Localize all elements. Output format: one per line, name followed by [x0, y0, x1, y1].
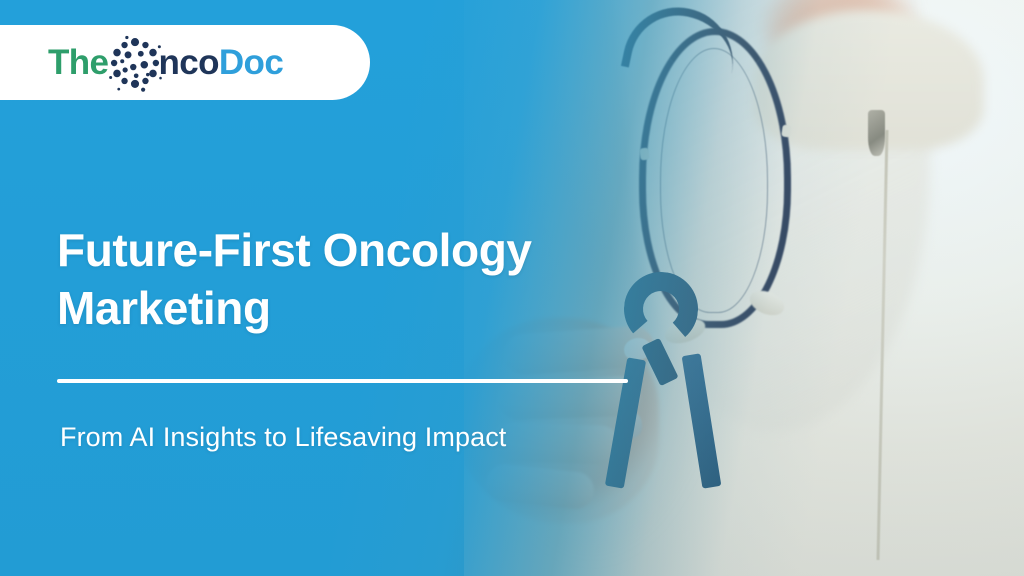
headline-divider — [57, 379, 628, 383]
logo-text-the: The — [48, 45, 108, 80]
presentation-slide: The — [0, 0, 1024, 576]
slide-headline: Future-First Oncology Marketing — [57, 222, 657, 338]
logo-wordmark: The — [48, 25, 283, 100]
cell-cluster-icon — [106, 34, 164, 92]
slide-subtitle: From AI Insights to Lifesaving Impact — [60, 420, 680, 455]
logo-badge[interactable]: The — [0, 25, 370, 100]
logo-text-nco: nco — [158, 45, 218, 80]
logo-text-doc: Doc — [219, 45, 283, 80]
